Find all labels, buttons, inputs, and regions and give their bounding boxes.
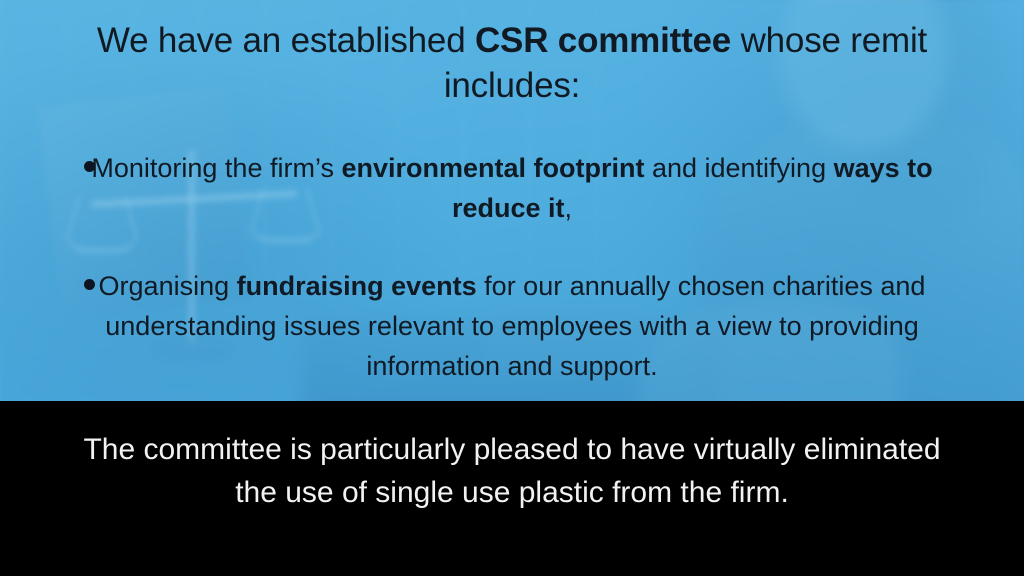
presentation-slide: We have an established CSR committee who… [0,0,1024,576]
bullet-1-text-middle: and identifying [644,153,833,183]
list-item: Monitoring the firm’s environmental foot… [62,148,962,228]
slide-text-layer: We have an established CSR committee who… [0,0,1024,401]
bullet-2-text-before-bold: Organising [99,271,237,301]
bullet-1-text-before-bold: Monitoring the firm’s [91,153,341,183]
heading-bold-phrase: CSR committee [475,21,731,60]
bullet-list: Monitoring the firm’s environmental foot… [62,148,962,386]
bullet-1-text-after-bold: , [565,193,573,223]
bullet-2-bold-phrase-1: fundraising events [237,271,477,301]
bullet-dot-icon [84,279,95,290]
bullet-dot-icon [84,161,95,172]
footer-line-one: The committee is particularly pleased to… [83,433,795,466]
heading-line-two: includes: [444,66,580,105]
heading-text-after-bold: whose remit [731,21,927,60]
slide-upper-blue-region: We have an established CSR committee who… [0,0,1024,401]
heading-text-before-bold: We have an established [97,21,475,60]
bullet-1-bold-phrase-1: environmental footprint [341,153,644,183]
footer-statement: The committee is particularly pleased to… [62,428,962,514]
slide-footer-band: The committee is particularly pleased to… [0,401,1024,576]
list-item: Organising fundraising events for our an… [62,266,962,386]
slide-heading: We have an established CSR committee who… [62,18,962,108]
